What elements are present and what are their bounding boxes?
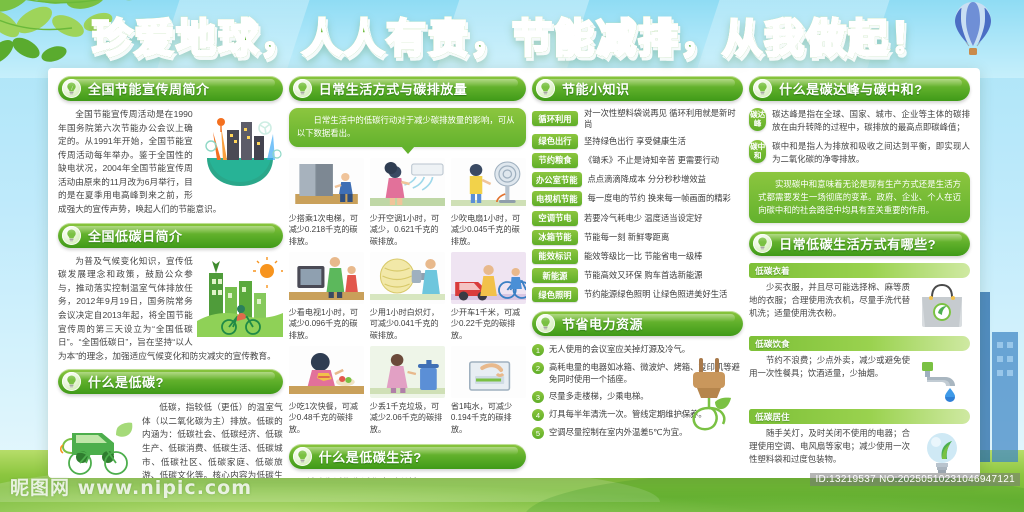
- section-header-low-carbon-day: 全国低碳日简介: [58, 223, 283, 248]
- callout-box: 日常生活中的低碳行动对于减少碳排放量的影响，可从以下数据看出。: [289, 108, 526, 147]
- wind-solar-illustration: [430, 476, 526, 478]
- carbon-item: 少丢1千克垃圾，可减少2.06千克的碳排放。: [370, 346, 445, 435]
- section-header-what-is-low-carbon: 什么是低碳?: [58, 369, 283, 394]
- carbon-item: 少开空调1小时，可减少，0.621千克的碳排放。: [370, 158, 445, 247]
- tip-text: 能效等级比一比 节能省电一级棒: [584, 251, 702, 262]
- tip-text: 节约能源绿色照明 让绿色照进美好生活: [584, 289, 727, 300]
- carbon-item-caption: 少吹电扇1小时，可减少0.045千克的碳排放。: [451, 213, 526, 247]
- life-block-housing: 随手关灯，及时关闭不使用的电器；合理使用空调、电风扇等家电；减少使用一次性塑料袋…: [749, 427, 970, 477]
- tip-row: 空调节电 若要冷气耗电少 温度适当设定好: [532, 211, 743, 226]
- carbon-item: 少搭乘1次电梯，可减少0.218千克的碳排放。: [289, 158, 364, 247]
- tip-row: 节约粮食 《锄禾》不止是诗知辛苦 更需要行动: [532, 153, 743, 168]
- list-text: 尽量多走楼梯，少乘电梯。: [549, 390, 649, 402]
- leaf-bulb-icon: [753, 234, 772, 253]
- carbon-peak-text: 碳达峰是指在全球、国家、城市、企业等主体的碳排放在由升转降的过程中，碳排放的最高…: [772, 108, 970, 134]
- section-header-daily-lowcarbon: 日常低碳生活方式有哪些?: [749, 231, 970, 256]
- tip-row: 办公室节能 点点滴滴降成本 分分秒秒增效益: [532, 172, 743, 187]
- carbon-neutral-text: 碳中和是指人为排放和吸收之间达到平衡，即实现人为二氧化碳的净零排放。: [772, 140, 970, 166]
- television-icon: [289, 252, 364, 304]
- energy-tips-list: 循环利用 对一次性塑料袋说再见 循环利用就是新时尚 绿色出行 坚持绿色出行 享受…: [532, 108, 743, 302]
- tip-tag: 绿色照明: [532, 287, 578, 302]
- list-text: 空调尽量控制在室内外温差5℃为宜。: [549, 426, 687, 438]
- tip-text: 节能每一刻 新鲜零距离: [584, 232, 669, 243]
- section-title: 节能小知识: [562, 79, 630, 98]
- fastfood-icon: [289, 346, 364, 398]
- carbon-item-caption: 少开车1千米，可减少0.22千克的碳排放。: [451, 307, 526, 341]
- subheading-diet: 低碳饮食: [749, 336, 970, 351]
- section-title: 日常低碳生活方式有哪些?: [779, 234, 936, 253]
- carbon-item: 少看电视1小时，可减少0.096千克的碳排放。: [289, 252, 364, 341]
- section-title: 什么是低碳生活?: [319, 447, 422, 466]
- carbon-item-caption: 少搭乘1次电梯，可减少0.218千克的碳排放。: [289, 213, 364, 247]
- tip-row: 冰箱节能 节能每一刻 新鲜零距离: [532, 230, 743, 245]
- tip-text: 点点滴滴降成本 分分秒秒增效益: [588, 174, 706, 185]
- carbon-peak-badge: 碳达峰: [749, 108, 766, 131]
- air-conditioner-icon: [370, 158, 445, 210]
- car-bike-icon: [451, 252, 526, 304]
- leaf-bulb-icon: [753, 79, 772, 98]
- tip-tag: 空调节电: [532, 211, 578, 226]
- tip-text: 对一次性塑料袋说再见 循环利用就是新时尚: [584, 108, 743, 130]
- carbon-item: 省1吨水，可减少0.194千克的碳排放。: [451, 346, 526, 435]
- carbon-item: 少用1小时白炽灯，可减少0.041千克的碳排放。: [370, 252, 445, 341]
- tip-tag: 办公室节能: [532, 172, 582, 187]
- leaf-bulb-icon: [62, 372, 81, 391]
- leaf-bulb-icon: [293, 79, 312, 98]
- subheading-clothing: 低碳衣着: [749, 263, 970, 278]
- section-body-low-carbon-life: 低碳生活指生活作息时所耗用的能量要尽力减少，从而减低碳，特别是二氧化碳的排放量，…: [289, 476, 526, 478]
- carbon-item-caption: 少看电视1小时，可减少0.096千克的碳排放。: [289, 307, 364, 341]
- section-header-save-power: 节省电力资源: [532, 311, 743, 336]
- tip-row: 循环利用 对一次性塑料袋说再见 循环利用就是新时尚: [532, 108, 743, 130]
- section-title: 全国节能宣传周简介: [88, 79, 210, 98]
- elevator-icon: [289, 158, 364, 210]
- carbon-item-caption: 少丢1千克垃圾，可减少2.06千克的碳排放。: [370, 401, 445, 435]
- carbon-item-caption: 少开空调1小时，可减少，0.621千克的碳排放。: [370, 213, 445, 247]
- life-block-clothing: 少买衣服，并且尽可能选择棉、麻等质地的衣服；合理使用洗衣机，尽量手洗代替机洗；适…: [749, 281, 970, 331]
- leaf-bulb-icon: [536, 314, 555, 333]
- site-watermark: 昵图网 www.nipic.com: [10, 473, 252, 500]
- carbon-items-grid: 少搭乘1次电梯，可减少0.218千克的碳排放。: [289, 158, 526, 435]
- column-2: 日常生活方式与碳排放量 日常生活中的低碳行动对于减少碳排放量的影响，可从以下数据…: [289, 76, 526, 472]
- column-1: 全国节能宣传周简介: [58, 76, 283, 472]
- carbon-neutral-highlight: 实现碳中和意味着无论是现有生产方式还是生活方式都需要发生一场彻底的变革。政府、企…: [749, 172, 970, 223]
- column-3: 节能小知识 循环利用 对一次性塑料袋说再见 循环利用就是新时尚 绿色出行 坚持绿…: [532, 76, 743, 472]
- carbon-neutral-badge: 碳中和: [749, 140, 766, 163]
- plug-leaf-illustration: [679, 354, 741, 438]
- list-number: 1: [532, 344, 544, 356]
- list-number: 3: [532, 391, 544, 403]
- carbon-item: 少开车1千米，可减少0.22千克的碳排放。: [451, 252, 526, 341]
- carbon-item: 少吃1次快餐，可减少0.48千克的碳排放。: [289, 346, 364, 435]
- section-title: 节省电力资源: [562, 314, 643, 333]
- carbon-item-caption: 省1吨水，可减少0.194千克的碳排放。: [451, 401, 526, 435]
- tip-tag: 新能源: [532, 268, 578, 283]
- tip-tag: 节约粮食: [532, 153, 578, 168]
- carbon-neutral-row: 碳中和 碳中和是指人为排放和吸收之间达到平衡，即实现人为二氧化碳的净零排放。: [749, 140, 970, 166]
- section-daily-lowcarbon: 日常低碳生活方式有哪些? 低碳衣着 少买衣服，并且尽可能选择棉、麻等质地的: [749, 231, 970, 478]
- eco-city-illustration: [197, 110, 283, 190]
- section-what-is-low-carbon: 什么是低碳?: [58, 369, 283, 478]
- section-body-what-is-low-carbon: 低碳，指较低（更低）的温室气体（以二氧化碳为主）排放。低碳的内涵为：低碳社会、低…: [58, 401, 283, 478]
- water-tap-icon: [914, 354, 970, 404]
- tip-tag: 电视机节能: [532, 191, 582, 206]
- tip-row: 绿色照明 节约能源绿色照明 让绿色照进美好生活: [532, 287, 743, 302]
- tip-row: 绿色出行 坚持绿色出行 享受健康生活: [532, 134, 743, 149]
- section-save-power: 节省电力资源 1 无人使用的会议室应关掉灯源及冷气。: [532, 311, 743, 439]
- electric-fan-icon: [451, 158, 526, 210]
- tip-text: 《锄禾》不止是诗知辛苦 更需要行动: [584, 155, 719, 166]
- tip-tag: 绿色出行: [532, 134, 578, 149]
- carbon-item-caption: 少用1小时白炽灯，可减少0.041千克的碳排放。: [370, 307, 445, 341]
- page-title: 珍爱地球，人人有责，节能减排，从我做起！: [92, 6, 932, 64]
- section-header-energy-tips: 节能小知识: [532, 76, 743, 101]
- electric-car-bike-illustration: [58, 403, 138, 477]
- list-number: 2: [532, 362, 544, 374]
- tip-row: 能效标识 能效等级比一比 节能省电一级棒: [532, 249, 743, 264]
- list-number: 5: [532, 427, 544, 439]
- carbon-item-caption: 少吃1次快餐，可减少0.48千克的碳排放。: [289, 401, 364, 435]
- tip-text: 坚持绿色出行 享受健康生活: [584, 136, 686, 147]
- leaf-bulb-icon: [536, 79, 555, 98]
- trash-icon: [370, 346, 445, 398]
- tip-row: 新能源 节能高效又环保 购车首选新能源: [532, 268, 743, 283]
- section-title: 什么是碳达峰与碳中和?: [779, 79, 922, 98]
- tip-row: 电视机节能 每一度电的节约 换来每一帧画面的精彩: [532, 191, 743, 206]
- tip-text: 若要冷气耗电少 温度适当设定好: [584, 213, 702, 224]
- tip-tag: 能效标识: [532, 249, 578, 264]
- list-text: 无人使用的会议室应关掉灯源及冷气。: [549, 343, 690, 355]
- section-low-carbon-day: 全国低碳日简介: [58, 223, 283, 364]
- tip-text: 每一度电的节约 换来每一帧画面的精彩: [588, 193, 731, 204]
- leaf-bulb-icon: [293, 447, 312, 466]
- leaf-bulb-icon: [62, 79, 81, 98]
- column-4: 什么是碳达峰与碳中和? 碳达峰 碳达峰是指在全球、国家、城市、企业等主体的碳排放…: [749, 76, 970, 472]
- tip-tag: 冰箱节能: [532, 230, 578, 245]
- section-energy-week: 全国节能宣传周简介: [58, 76, 283, 217]
- tip-tag: 循环利用: [532, 111, 578, 126]
- section-header-energy-week: 全国节能宣传周简介: [58, 76, 283, 101]
- section-header-low-carbon-life: 什么是低碳生活?: [289, 444, 526, 469]
- bulb-leaf-icon: [914, 427, 970, 477]
- section-header-carbon-peak: 什么是碳达峰与碳中和?: [749, 76, 970, 101]
- poster-title-wrapper: 珍爱地球，人人有责，节能减排，从我做起！: [0, 6, 1024, 64]
- section-body-energy-week: 全国节能宣传周活动是在1990年国务院第六次节能办公会议上确定的。从1991年开…: [58, 108, 283, 217]
- light-bulb-icon: [370, 252, 445, 304]
- section-header-daily-carbon: 日常生活方式与碳排放量: [289, 76, 526, 101]
- green-city-bicycle-illustration: [197, 257, 283, 337]
- section-what-is-low-carbon-life: 什么是低碳生活?: [289, 444, 526, 478]
- leaf-bulb-icon: [62, 226, 81, 245]
- id-watermark: ID:13219537 NO:20250510231046947121: [810, 473, 1020, 486]
- section-title: 日常生活方式与碳排放量: [319, 79, 468, 98]
- subheading-housing: 低碳居住: [749, 409, 970, 424]
- content-board: 全国节能宣传周简介: [48, 68, 980, 478]
- shopping-bag-icon: [914, 281, 970, 331]
- list-number: 4: [532, 409, 544, 421]
- carbon-peak-row: 碳达峰 碳达峰是指在全球、国家、城市、企业等主体的碳排放在由升转降的过程中，碳排…: [749, 108, 970, 134]
- carbon-item: 少吹电扇1小时，可减少0.045千克的碳排放。: [451, 158, 526, 247]
- water-tap-icon: [451, 346, 526, 398]
- section-body-low-carbon-day: 为普及气候变化知识，宣传低碳发展理念和政策，鼓励公众参与，推动落实控制温室气体排…: [58, 255, 283, 364]
- tip-text: 节能高效又环保 购车首选新能源: [584, 270, 702, 281]
- section-title: 什么是低碳?: [88, 372, 164, 391]
- life-block-diet: 节约不浪费；少点外卖，减少或避免使用一次性餐具；饮酒适量，少抽烟。: [749, 354, 970, 404]
- section-title: 全国低碳日简介: [88, 226, 183, 245]
